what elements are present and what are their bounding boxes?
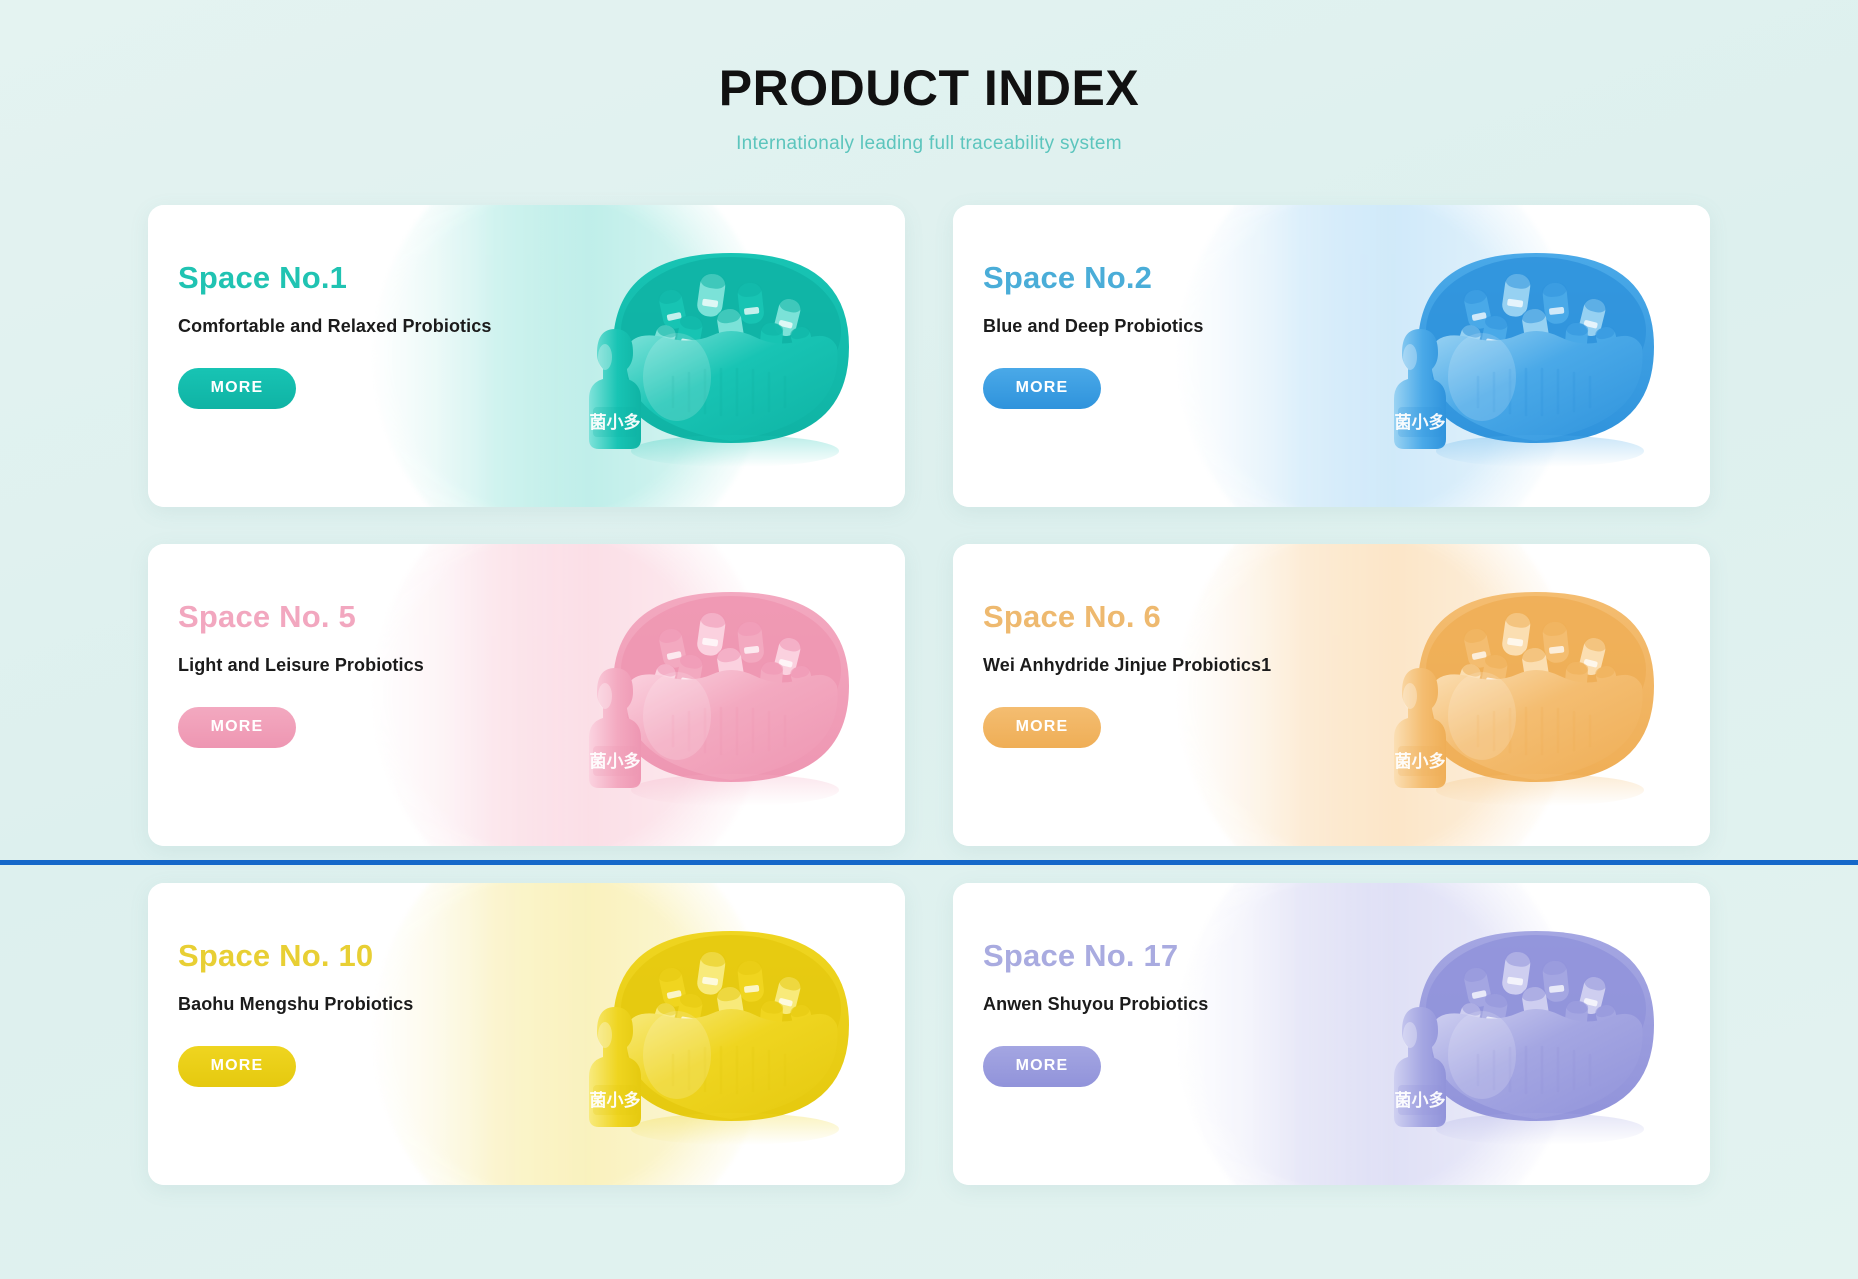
product-image-probiotic-jar-orange: 菌小多 [1370, 566, 1662, 824]
product-card-5[interactable]: 菌小多 Space No. 10 Baohu Mengshu Probiotic… [148, 883, 905, 1185]
card-title-1: Space No.1 [178, 261, 491, 295]
product-card-2[interactable]: 菌小多 Space No.2 Blue and Deep Probiotics … [953, 205, 1710, 507]
card-description-3: Light and Leisure Probiotics [178, 655, 424, 676]
card-description-4: Wei Anhydride Jinjue Probiotics1 [983, 655, 1271, 676]
more-button-1[interactable]: MORE [178, 368, 296, 409]
product-card-6[interactable]: 菌小多 Space No. 17 Anwen Shuyou Probiotics… [953, 883, 1710, 1185]
product-image-probiotic-jar-blue: 菌小多 [1370, 227, 1662, 485]
card-body: Space No. 6 Wei Anhydride Jinjue Probiot… [983, 600, 1271, 748]
product-card-grid: 菌小多 Space No.1 Comfortable and Relaxed P… [148, 205, 1710, 1185]
card-title-6: Space No. 17 [983, 939, 1208, 973]
more-button-3[interactable]: MORE [178, 707, 296, 748]
svg-text:菌小多: 菌小多 [1395, 412, 1446, 433]
page-header: PRODUCT INDEX Internationaly leading ful… [0, 0, 1858, 155]
product-card-1[interactable]: 菌小多 Space No.1 Comfortable and Relaxed P… [148, 205, 905, 507]
card-description-1: Comfortable and Relaxed Probiotics [178, 316, 491, 337]
card-body: Space No.2 Blue and Deep Probiotics MORE [983, 261, 1203, 409]
card-description-5: Baohu Mengshu Probiotics [178, 994, 413, 1015]
card-description-6: Anwen Shuyou Probiotics [983, 994, 1208, 1015]
svg-text:菌小多: 菌小多 [590, 412, 641, 433]
product-image-probiotic-jar-yellow: 菌小多 [565, 905, 857, 1163]
svg-text:菌小多: 菌小多 [1395, 751, 1446, 772]
product-card-3[interactable]: 菌小多 Space No. 5 Light and Leisure Probio… [148, 544, 905, 846]
card-title-3: Space No. 5 [178, 600, 424, 634]
card-body: Space No. 5 Light and Leisure Probiotics… [178, 600, 424, 748]
svg-text:菌小多: 菌小多 [590, 751, 641, 772]
card-body: Space No.1 Comfortable and Relaxed Probi… [178, 261, 491, 409]
card-body: Space No. 17 Anwen Shuyou Probiotics MOR… [983, 939, 1208, 1087]
page-title: PRODUCT INDEX [0, 62, 1858, 115]
more-button-6[interactable]: MORE [983, 1046, 1101, 1087]
more-button-5[interactable]: MORE [178, 1046, 296, 1087]
section-divider [0, 860, 1858, 865]
page-subtitle: Internationaly leading full traceability… [0, 133, 1858, 155]
card-title-2: Space No.2 [983, 261, 1203, 295]
card-title-5: Space No. 10 [178, 939, 413, 973]
product-card-4[interactable]: 菌小多 Space No. 6 Wei Anhydride Jinjue Pro… [953, 544, 1710, 846]
svg-text:菌小多: 菌小多 [590, 1090, 641, 1111]
card-title-4: Space No. 6 [983, 600, 1271, 634]
svg-text:菌小多: 菌小多 [1395, 1090, 1446, 1111]
more-button-4[interactable]: MORE [983, 707, 1101, 748]
product-image-probiotic-jar-pink: 菌小多 [565, 566, 857, 824]
card-body: Space No. 10 Baohu Mengshu Probiotics MO… [178, 939, 413, 1087]
product-image-probiotic-jar-teal: 菌小多 [565, 227, 857, 485]
card-description-2: Blue and Deep Probiotics [983, 316, 1203, 337]
more-button-2[interactable]: MORE [983, 368, 1101, 409]
product-image-probiotic-jar-purple: 菌小多 [1370, 905, 1662, 1163]
